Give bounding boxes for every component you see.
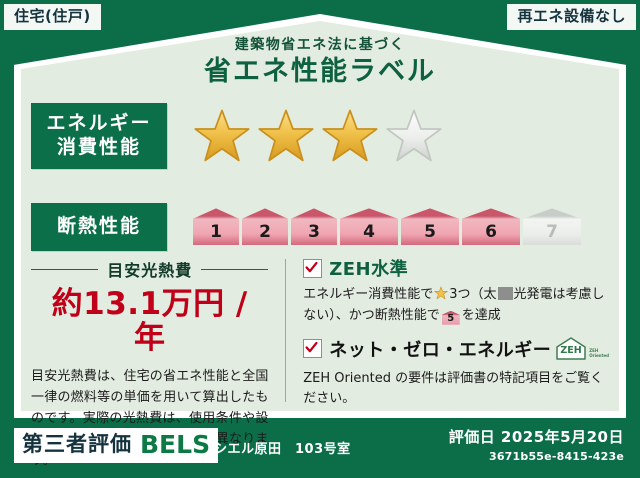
redaction-mark — [498, 287, 513, 300]
zeh-standard-heading: ZEH水準 — [303, 255, 609, 281]
zeh-body-mid: 3つ（太 — [449, 287, 496, 302]
star-icon-filled-2 — [257, 107, 315, 165]
star-icon-inline — [434, 286, 448, 300]
bels-third-party-label: 第三者評価 — [22, 433, 132, 456]
building-name: シエル原田 103号室 — [214, 438, 351, 457]
insulation-grade-2: 2 — [242, 208, 288, 245]
insulation-grade-4: 4 — [340, 208, 398, 245]
insulation-grade-scale: 1 2 3 4 5 6 7 — [193, 208, 584, 245]
insulation-grade-6: 6 — [462, 208, 520, 245]
zeh-logo-subtext: ZEH Oriented — [589, 349, 609, 359]
zeh-logo: ZEH ZEH Oriented — [554, 336, 609, 362]
zeh-house-icon: ZEH — [554, 336, 588, 362]
insulation-grade-5: 5 — [401, 208, 459, 245]
evaluation-meta: 評価日 2025年5月20日 3671b55e-8415-423e — [449, 426, 624, 463]
bels-logo-text: BELS — [140, 431, 210, 459]
insulation-performance-row: 断熱性能 1 2 3 4 5 6 7 — [31, 203, 584, 251]
rule-right — [201, 269, 268, 270]
star-icon-empty-4 — [385, 107, 443, 165]
rule-left — [31, 269, 98, 270]
utility-cost-heading: 目安光熱費 — [31, 257, 268, 281]
footer-bar: 第三者評価 BELS シエル原田 103号室 評価日 2025年5月20日 36… — [0, 418, 640, 478]
insulation-grade-7: 7 — [523, 208, 581, 245]
page-title: 省エネ性能ラベル — [0, 57, 640, 87]
evaluation-id: 3671b55e-8415-423e — [449, 450, 624, 463]
energy-performance-row: エネルギー 消費性能 — [31, 103, 443, 169]
zeh-body-end: を達成 — [462, 308, 501, 323]
badge-renewable-equipment: 再エネ設備なし — [507, 4, 636, 30]
badge-dwelling-type: 住宅(住戸) — [4, 4, 101, 30]
zeh-standard-body: エネルギー消費性能で3つ（太光発電は考慮しない）、かつ断熱性能で5を達成 — [303, 285, 609, 327]
energy-performance-label: 住宅(住戸) 再エネ設備なし 建築物省エネ法に基づく 省エネ性能ラベル エネルギ… — [0, 0, 640, 478]
net-zero-energy-title: ネット・ゼロ・エネルギー — [329, 336, 551, 362]
insulation-performance-tag: 断熱性能 — [31, 203, 167, 251]
evaluation-date: 評価日 2025年5月20日 — [449, 426, 624, 447]
zeh-logo-sub-line2: Oriented — [589, 353, 609, 358]
utility-cost-value: 約13.1万円 / 年 — [31, 287, 268, 355]
zeh-tail-note: ZEH Oriented の要件は評価書の特記項目をご覧ください。 — [303, 369, 609, 411]
zeh-column: ZEH水準 エネルギー消費性能で3つ（太光発電は考慮しない）、かつ断熱性能で5を… — [303, 255, 609, 410]
net-zero-energy-heading: ネット・ゼロ・エネルギー ZEH ZEH Oriented — [303, 336, 609, 362]
energy-performance-tag: エネルギー 消費性能 — [31, 103, 167, 169]
checkbox-net-zero-energy — [303, 339, 322, 358]
bels-plate: 第三者評価 BELS — [14, 428, 218, 463]
star-icon-filled-1 — [193, 107, 251, 165]
energy-star-rating — [193, 107, 443, 165]
zeh-body-pre: エネルギー消費性能で — [303, 287, 433, 302]
utility-cost-column: 目安光熱費 約13.1万円 / 年 目安光熱費は、住宅の省エネ性能と全国一律の燃… — [31, 255, 268, 410]
utility-cost-title: 目安光熱費 — [98, 257, 201, 281]
energy-tag-line2: 消費性能 — [31, 136, 167, 160]
headline-subtitle: 建築物省エネ法に基づく — [0, 38, 640, 53]
lower-section: 目安光熱費 約13.1万円 / 年 目安光熱費は、住宅の省エネ性能と全国一律の燃… — [31, 255, 609, 410]
headline-block: 建築物省エネ法に基づく 省エネ性能ラベル — [0, 38, 640, 87]
check-icon — [305, 261, 318, 274]
energy-tag-line1: エネルギー — [31, 112, 167, 136]
svg-text:ZEH: ZEH — [561, 345, 582, 356]
column-divider — [285, 259, 286, 402]
insulation-grade-1: 1 — [193, 208, 239, 245]
zeh-standard-title: ZEH水準 — [329, 255, 408, 281]
check-icon — [305, 341, 318, 354]
star-icon-filled-3 — [321, 107, 379, 165]
inline-grade-badge: 5 — [442, 311, 460, 325]
checkbox-zeh-standard — [303, 259, 322, 278]
insulation-grade-3: 3 — [291, 208, 337, 245]
